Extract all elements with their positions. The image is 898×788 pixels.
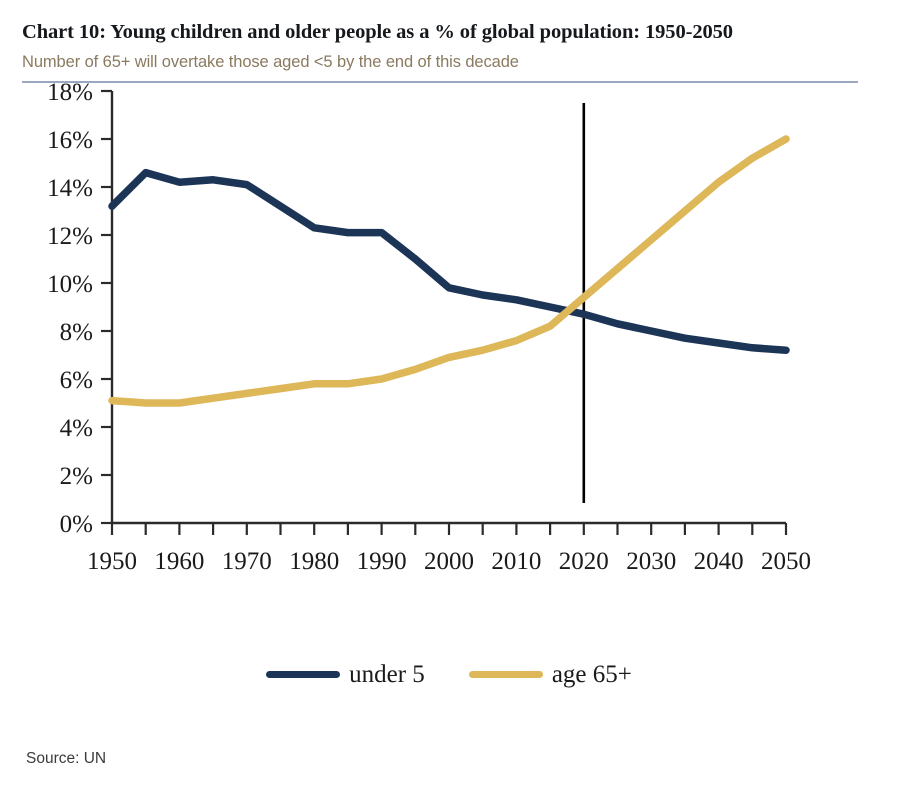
y-axis-labels: 0%2%4%6%8%10%12%14%16%18% (47, 83, 93, 538)
legend-label-age-65-plus: age 65+ (552, 662, 632, 687)
legend-label-under-5: under 5 (349, 662, 425, 687)
x-tick-label: 2050 (761, 548, 811, 575)
series-layer (112, 139, 786, 403)
chart-subtitle: Number of 65+ will overtake those aged <… (22, 52, 872, 72)
x-axis-labels: 1950196019701980199020002010202020302040… (87, 548, 811, 575)
y-axis-ticks (101, 91, 112, 523)
chart-header: Chart 10: Young children and older peopl… (0, 0, 898, 83)
x-tick-label: 2040 (694, 548, 744, 575)
line-chart-svg: 0%2%4%6%8%10%12%14%16%18% 19501960197019… (0, 83, 898, 603)
y-tick-label: 4% (60, 415, 93, 442)
page-title: Chart 10: Young children and older peopl… (22, 20, 872, 45)
x-tick-label: 1950 (87, 548, 137, 575)
x-tick-label: 2020 (559, 548, 609, 575)
y-tick-label: 2% (60, 463, 93, 490)
legend-swatch-under-5 (266, 671, 340, 678)
x-axis-ticks (112, 523, 786, 535)
legend-item-under-5[interactable]: under 5 (266, 662, 425, 687)
chart-plot-area: 0%2%4%6%8%10%12%14%16%18% 19501960197019… (0, 83, 898, 603)
y-tick-label: 12% (47, 223, 93, 250)
y-tick-label: 10% (47, 271, 93, 298)
y-tick-label: 16% (47, 127, 93, 154)
y-tick-label: 18% (47, 83, 93, 106)
x-tick-label: 1960 (154, 548, 204, 575)
x-tick-label: 1970 (222, 548, 272, 575)
x-tick-label: 2010 (491, 548, 541, 575)
legend-swatch-age-65-plus (469, 671, 543, 678)
y-tick-label: 0% (60, 511, 93, 538)
source-note: Source: UN (26, 750, 106, 768)
y-tick-label: 6% (60, 367, 93, 394)
series-line-under-5 (112, 173, 786, 351)
x-tick-label: 2000 (424, 548, 474, 575)
x-tick-label: 1990 (357, 548, 407, 575)
y-tick-label: 8% (60, 319, 93, 346)
chart-legend: under 5 age 65+ (0, 662, 898, 687)
chart-page: Chart 10: Young children and older peopl… (0, 0, 898, 788)
y-tick-label: 14% (47, 175, 93, 202)
x-tick-label: 2030 (626, 548, 676, 575)
x-tick-label: 1980 (289, 548, 339, 575)
legend-item-age-65-plus[interactable]: age 65+ (469, 662, 632, 687)
